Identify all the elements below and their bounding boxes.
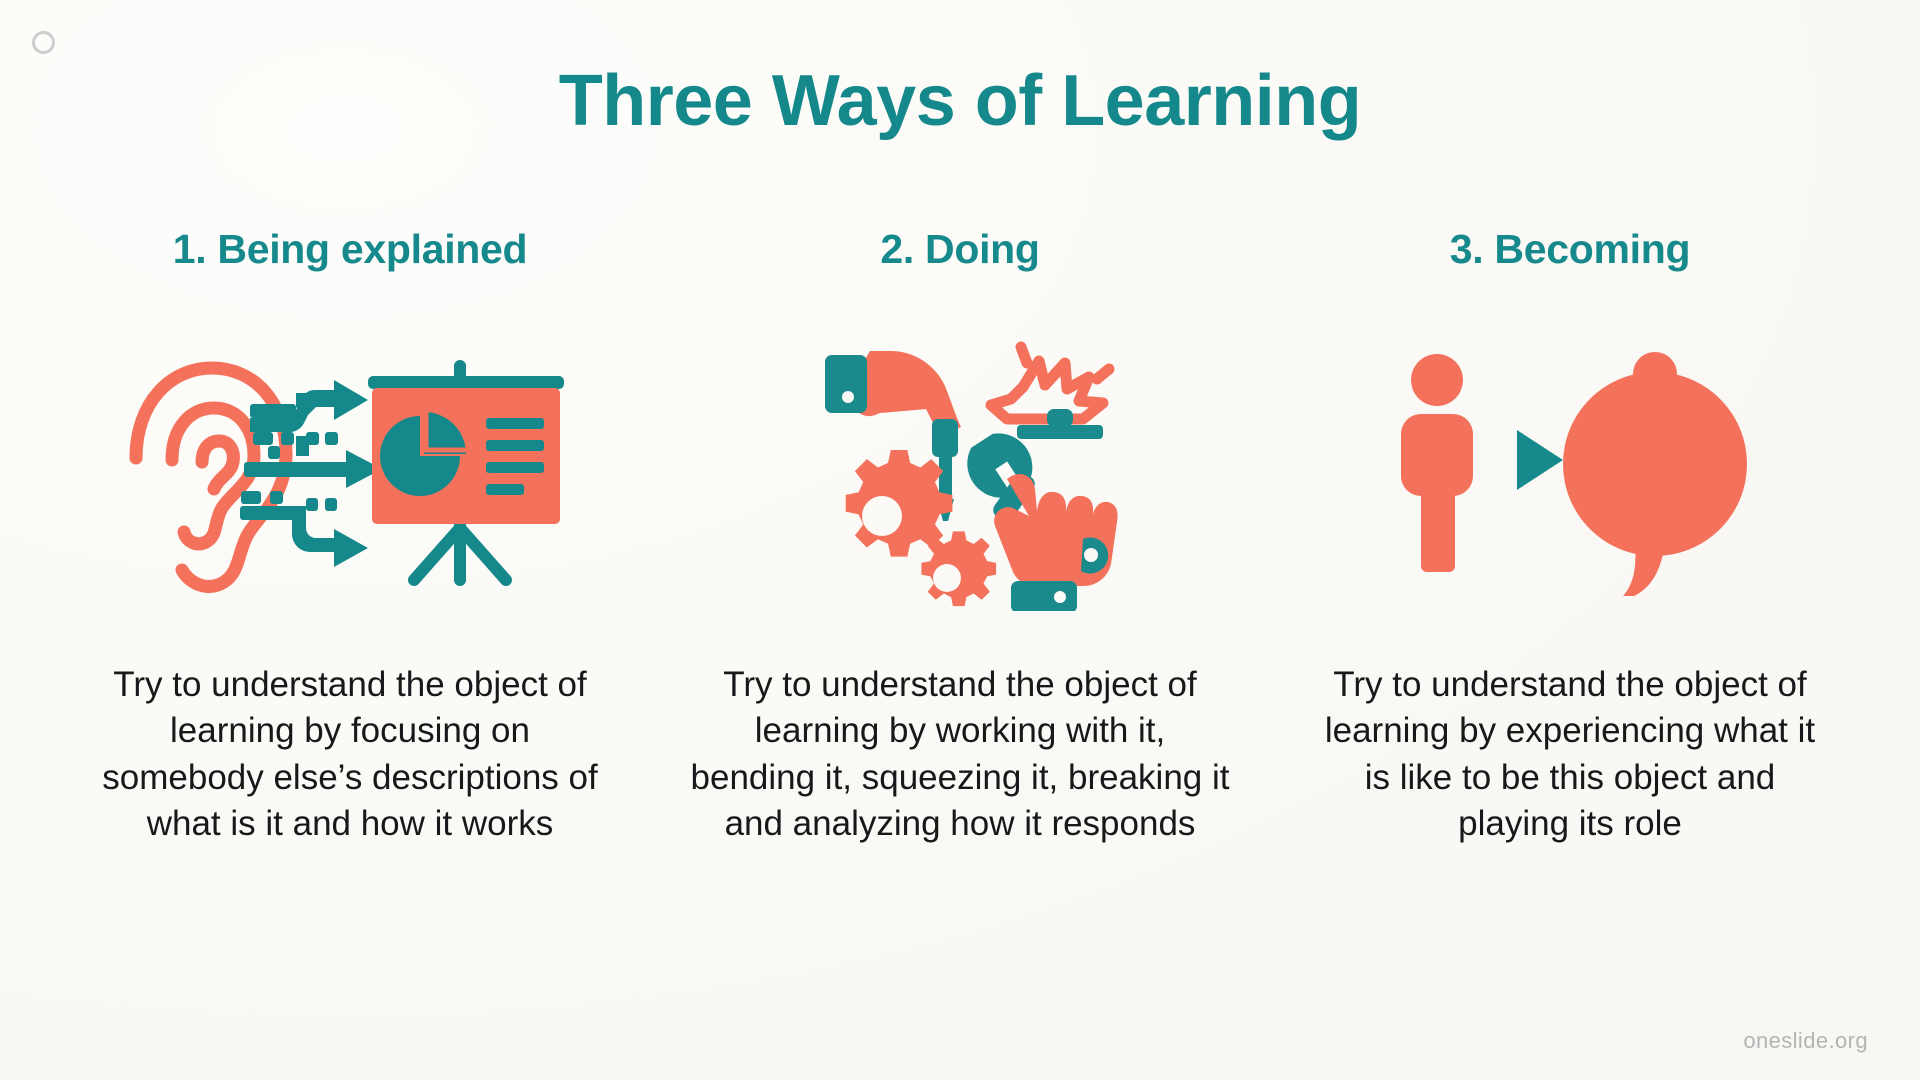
soundwave-arrows-icon — [240, 380, 382, 567]
watermark-oneslide: oneslide.org — [1743, 1028, 1868, 1054]
sleeve-cuff-2 — [1011, 581, 1077, 611]
board-top-bar — [368, 376, 564, 389]
person-arrow-speechbubble-icon — [1385, 326, 1755, 616]
speech-bubble-icon — [1563, 352, 1747, 596]
cuff-button — [842, 391, 854, 403]
column-body-3: Try to understand the object of learning… — [1310, 662, 1830, 847]
gear-small-icon — [921, 532, 996, 607]
column-doing: 2. Doing — [670, 225, 1250, 847]
column-becoming: 3. Becoming — [1280, 225, 1860, 847]
person-figure-icon — [1401, 354, 1473, 572]
three-column-layout: 1. Being explained — [60, 225, 1860, 847]
ear-icon — [136, 368, 286, 586]
presentation-board-icon — [368, 366, 564, 580]
column-body-1: Try to understand the object of learning… — [90, 662, 610, 847]
page-title: Three Ways of Learning — [0, 62, 1920, 141]
corner-ring-decoration — [32, 31, 55, 54]
sleeve-cuff — [825, 355, 867, 413]
transform-arrow-icon — [1517, 430, 1563, 490]
column-body-2: Try to understand the object of learning… — [690, 662, 1230, 847]
impact-burst-icon — [991, 347, 1109, 419]
cuff-button-2 — [1054, 591, 1066, 603]
slide-canvas: Three Ways of Learning 1. Being explaine… — [0, 0, 1920, 1080]
column-heading-3: 3. Becoming — [1450, 225, 1690, 274]
column-heading-1: 1. Being explained — [173, 225, 528, 274]
column-heading-2: 2. Doing — [880, 225, 1039, 274]
ear-soundwaves-presentation-icon — [120, 326, 580, 616]
hands-tools-gears-icon — [795, 326, 1125, 616]
column-being-explained: 1. Being explained — [60, 225, 640, 847]
